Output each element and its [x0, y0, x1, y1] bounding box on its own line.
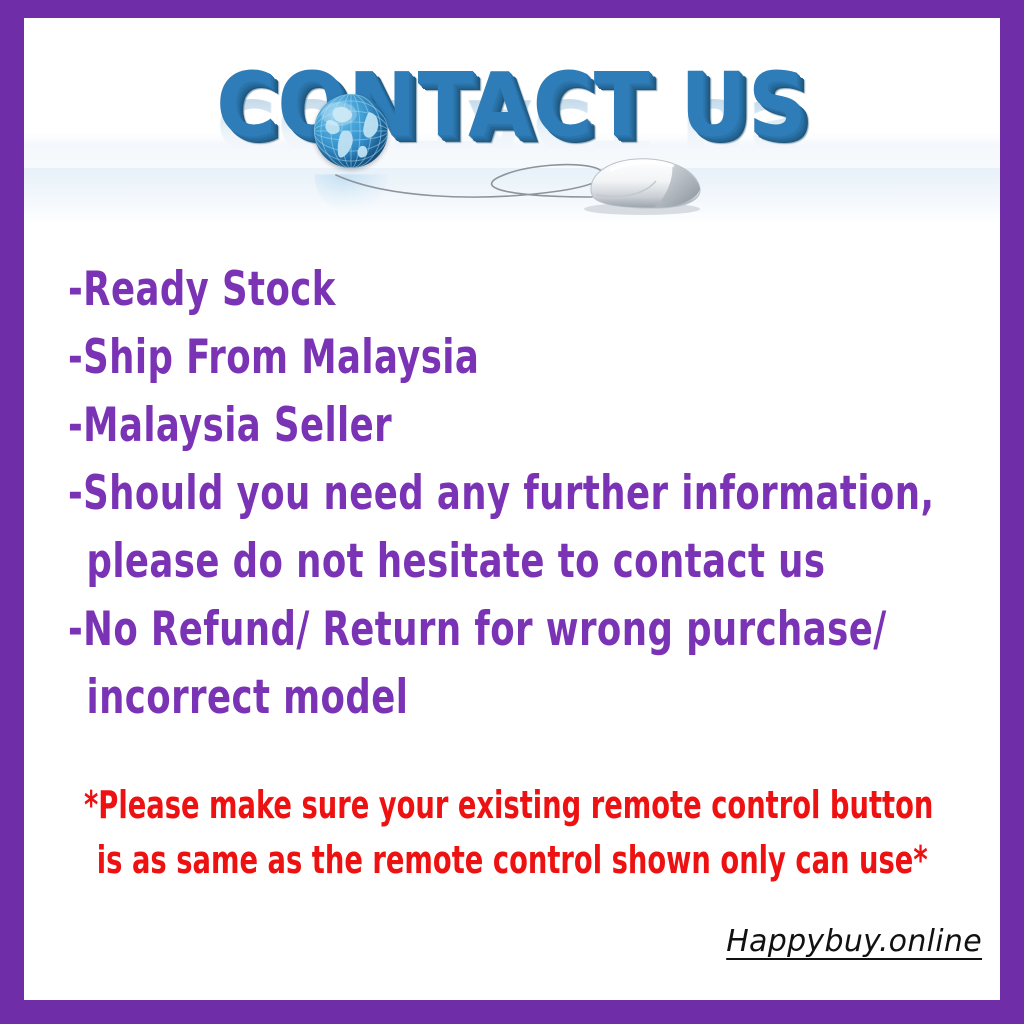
list-item: -Ship From Malaysia — [68, 324, 824, 392]
contact-us-banner: CONTACT US CONTACT US — [0, 0, 1024, 1024]
warning-note-line: is as same as the remote control shown o… — [84, 833, 812, 888]
white-canvas: CONTACT US CONTACT US — [24, 18, 1000, 1000]
list-item-continuation: incorrect model — [68, 664, 824, 732]
header-banner: CONTACT US CONTACT US — [24, 18, 1000, 223]
list-item: -No Refund/ Return for wrong purchase/ — [68, 596, 824, 664]
page-title: CONTACT US — [24, 62, 1000, 151]
list-item: -Ready Stock — [68, 256, 824, 324]
header-stage: CONTACT US CONTACT US — [24, 18, 1000, 223]
details-list: -Ready Stock -Ship From Malaysia -Malays… — [68, 256, 968, 732]
list-item-continuation: please do not hesitate to contact us — [68, 528, 824, 596]
warning-note: *Please make sure your existing remote c… — [84, 778, 994, 888]
computer-mouse-icon — [324, 151, 704, 223]
warning-note-line: *Please make sure your existing remote c… — [84, 778, 812, 833]
list-item: -Should you need any further information… — [68, 460, 824, 528]
list-item: -Malaysia Seller — [68, 392, 824, 460]
store-signature[interactable]: Happybuy.online — [726, 923, 982, 961]
